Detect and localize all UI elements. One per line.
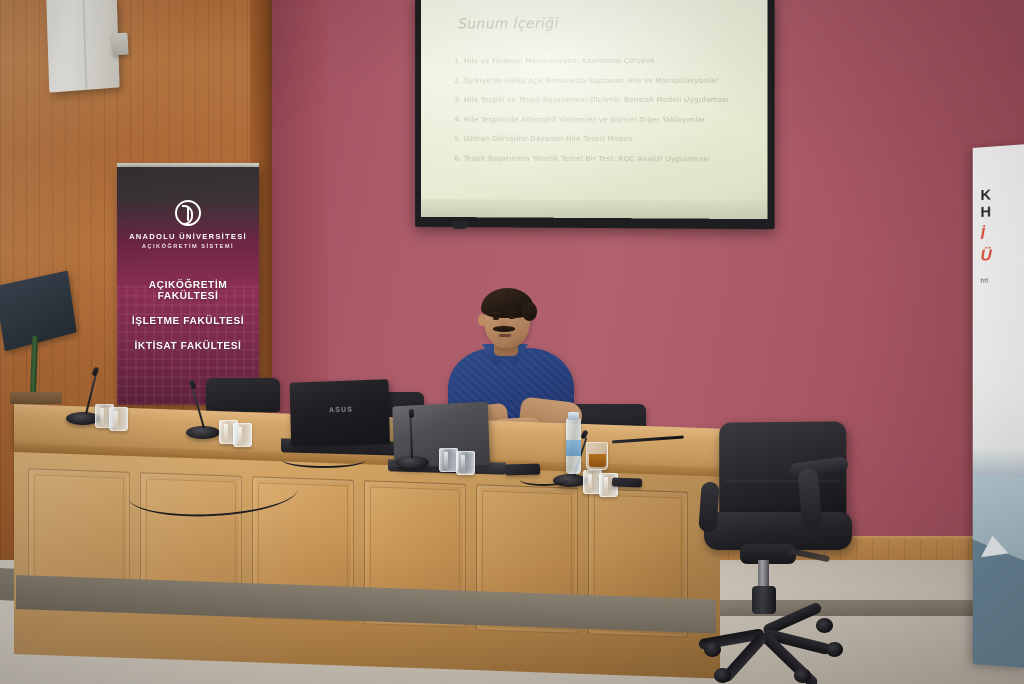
person-eyebrow-right <box>508 311 516 313</box>
tea-glass <box>586 442 608 470</box>
wall-speaker-icon <box>46 0 119 93</box>
water-glass <box>109 407 128 431</box>
chair-backrest <box>206 378 280 412</box>
projection-screen: Sunum İçeriği 1. Hile ve Finansal Manipü… <box>421 0 768 219</box>
screen-pull-tab <box>452 222 468 230</box>
laptop-cable <box>282 452 366 468</box>
slide-agenda-list: 1. Hile ve Finansal Manipülasyon, Kavram… <box>454 56 749 163</box>
chair-caster <box>714 668 731 683</box>
laptop-brand-label: ASUS <box>329 407 353 415</box>
person-eye-right <box>509 316 515 319</box>
banner-faculty-item: İŞLETME FAKÜLTESİ <box>117 316 259 327</box>
tea-liquid <box>589 454 606 467</box>
water-glass <box>456 451 475 475</box>
office-chair-base <box>690 606 850 666</box>
slide-item: 2. Türkiye'de Halka Açık Firmalarda Sapt… <box>454 75 749 84</box>
chair-caster <box>816 618 833 633</box>
banner-faculty-item: AÇIKÖĞRETİM FAKÜLTESİ <box>117 280 259 302</box>
chair-caster <box>794 668 811 683</box>
lectern-base <box>10 392 62 404</box>
bottle-label <box>566 440 581 456</box>
desk-cable <box>520 474 568 486</box>
right-banner-line-2: H <box>980 201 1024 221</box>
banner-org-subtitle: AÇIKÖĞRETİM SİSTEMİ <box>117 244 259 250</box>
person-eye-left <box>493 317 499 320</box>
screen-bottom-strip <box>421 199 768 219</box>
chair-seam <box>725 480 840 482</box>
slide-item: 3. Hile Tespiti ve Tespit Başarımının Öl… <box>454 95 749 104</box>
speaker-seam <box>83 0 87 90</box>
person-mustache <box>493 326 515 332</box>
banner-org-name: ANADOLU ÜNİVERSİTESİ <box>117 232 259 241</box>
banner-faculty-item: İKTİSAT FAKÜLTESİ <box>117 341 259 352</box>
conference-room-photo: Sunum İçeriği 1. Hile ve Finansal Manipü… <box>0 0 1024 684</box>
right-banner-accent-2: Ü <box>980 246 1024 265</box>
anadolu-logo-icon <box>175 200 201 226</box>
slide-item: 1. Hile ve Finansal Manipülasyon, Kavram… <box>454 56 749 66</box>
bottle-cap <box>568 412 579 420</box>
chair-caster <box>704 642 721 657</box>
person-ear <box>478 314 486 326</box>
speaker-mount-bracket <box>111 33 128 56</box>
person-eyebrow-left <box>492 312 500 314</box>
slide-item: 6. Tespit Başarımına Yönelik Temel Bir T… <box>454 153 749 163</box>
slide-item: 4. Hile Tespitinde Alternatif Yöntemler … <box>454 114 749 123</box>
person-hair-bun <box>522 302 537 321</box>
laptop-asus[interactable]: ASUS <box>290 379 390 446</box>
office-chair-armrest-left <box>698 481 719 532</box>
right-banner-accent-1: İ <box>980 224 1024 243</box>
slide-item: 5. Uzman Görüşüne Dayanan Hile Tespit Mo… <box>454 134 749 144</box>
chair-caster <box>826 642 843 657</box>
banner-faculty-list: AÇIKÖĞRETİM FAKÜLTESİ İŞLETME FAKÜLTESİ … <box>117 280 259 352</box>
person-mouth <box>499 334 511 337</box>
mountain-graphic <box>973 475 1024 668</box>
remote-control[interactable] <box>612 477 642 487</box>
anadolu-university-banner: ANADOLU ÜNİVERSİTESİ AÇIKÖĞRETİM SİSTEMİ… <box>117 167 259 405</box>
right-roll-up-banner: K H İ Ü htt <box>973 144 1024 668</box>
slide-title: Sunum İçeriği <box>458 15 749 32</box>
microphone-head-icon <box>409 409 414 418</box>
right-banner-url: htt <box>980 276 1024 285</box>
presentation-slide: Sunum İçeriği 1. Hile ve Finansal Manipü… <box>421 0 768 219</box>
water-glass <box>233 423 252 447</box>
